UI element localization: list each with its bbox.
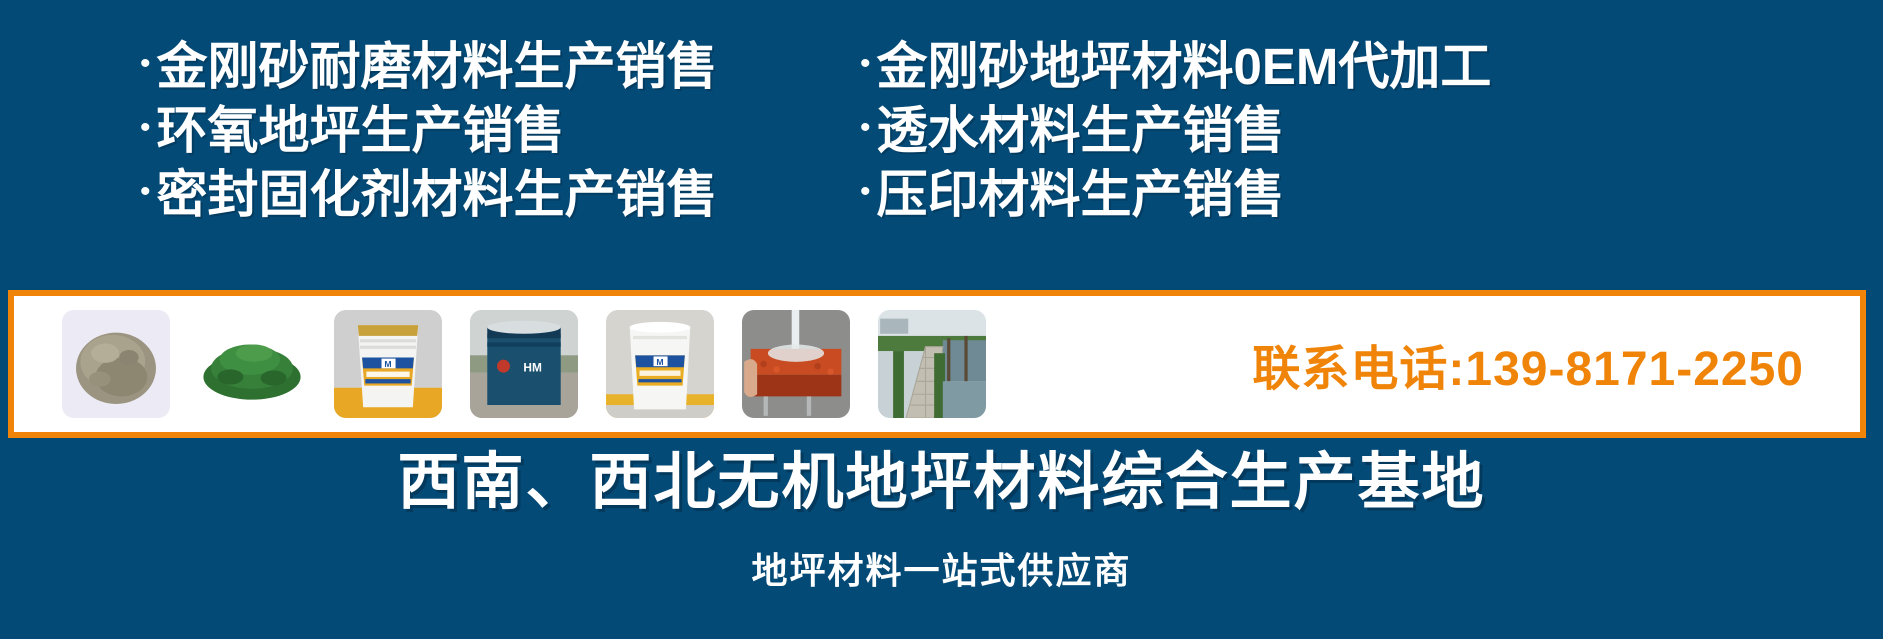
bullet-column-left: • 金刚砂耐磨材料生产销售 • 环氧地坪生产销售 • 密封固化剂材料生产销售 — [140, 34, 860, 284]
bullet-dot-icon: • — [860, 49, 871, 79]
grey-wear-resistant-powder-image — [62, 310, 170, 418]
bullet-label: 密封固化剂材料生产销售 — [157, 169, 718, 220]
stamped-concrete-pathway-image — [878, 310, 986, 418]
bullet-label: 透水材料生产销售 — [877, 105, 1285, 156]
svg-text:HM: HM — [523, 361, 542, 375]
promotional-banner: • 金刚砂耐磨材料生产销售 • 环氧地坪生产销售 • 密封固化剂材料生产销售 •… — [0, 0, 1883, 639]
bullet-item-sealing-curing-agent: • 密封固化剂材料生产销售 — [140, 162, 860, 226]
bullet-label: 金刚砂耐磨材料生产销售 — [157, 41, 718, 92]
hongma-blue-drum-image: HM — [470, 310, 578, 418]
bullet-dot-icon: • — [140, 177, 151, 207]
bullet-label: 环氧地坪生产销售 — [157, 105, 565, 156]
bullet-column-right: • 金刚砂地坪材料0EM代加工 • 透水材料生产销售 • 压印材料生产销售 — [860, 34, 1740, 284]
bullet-item-permeable-material: • 透水材料生产销售 — [860, 98, 1740, 162]
svg-text:M: M — [384, 359, 391, 369]
bullet-label: 压印材料生产销售 — [877, 169, 1285, 220]
bullet-dot-icon: • — [860, 113, 871, 143]
bullet-item-oem-processing: • 金刚砂地坪材料0EM代加工 — [860, 34, 1740, 98]
bullet-dot-icon: • — [140, 113, 151, 143]
epoxy-floor-coating-bucket-image: M — [606, 310, 714, 418]
product-thumbnail-strip: M HM — [62, 310, 986, 418]
sub-headline: 地坪材料一站式供应商 — [0, 553, 1883, 589]
permeable-concrete-sample-image — [742, 310, 850, 418]
contact-phone-number[interactable]: 联系电话:139-8171-2250 — [1252, 329, 1804, 399]
svg-text:M: M — [656, 357, 663, 367]
bullet-item-epoxy-flooring: • 环氧地坪生产销售 — [140, 98, 860, 162]
bullet-label: 金刚砂地坪材料0EM代加工 — [877, 41, 1492, 92]
product-services-list: • 金刚砂耐磨材料生产销售 • 环氧地坪生产销售 • 密封固化剂材料生产销售 •… — [0, 34, 1883, 284]
concrete-sealer-bucket-image: M — [334, 310, 442, 418]
bullet-dot-icon: • — [860, 177, 871, 207]
green-wear-resistant-powder-image — [198, 310, 306, 418]
bullet-item-abrasive-production: • 金刚砂耐磨材料生产销售 — [140, 34, 860, 98]
product-showcase-panel: M HM — [8, 290, 1866, 438]
main-headline: 西南、西北无机地坪材料综合生产基地 — [0, 452, 1883, 514]
bullet-item-stamped-material: • 压印材料生产销售 — [860, 162, 1740, 226]
bullet-dot-icon: • — [140, 49, 151, 79]
